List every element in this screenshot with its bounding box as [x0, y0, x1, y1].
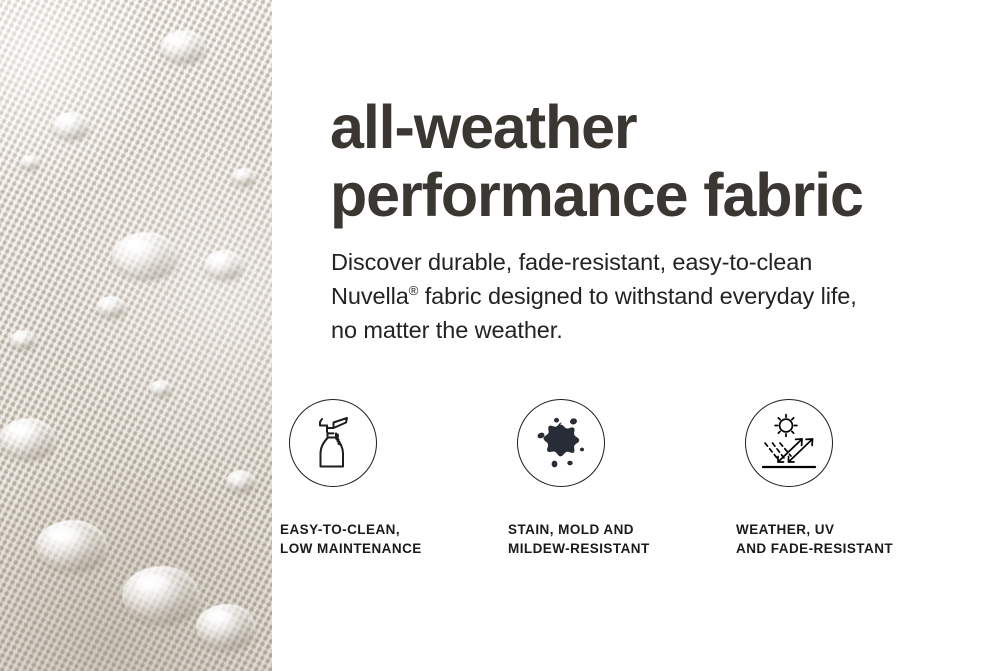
description-line-2: fabric designed to withstand everyday li… — [418, 283, 856, 309]
spray-bottle-icon — [305, 413, 361, 473]
water-droplet — [112, 232, 178, 280]
registered-trademark-icon: ® — [409, 283, 419, 298]
fabric-lighting-overlay — [0, 0, 272, 671]
feature-item-weather-uv-resistant: WEATHER, UV AND FADE-RESISTANT — [728, 399, 956, 558]
water-droplet — [150, 380, 172, 397]
icon-badge — [745, 399, 833, 487]
stain-splat-icon — [530, 412, 592, 474]
fabric-photo — [0, 0, 272, 671]
feature-item-stain-resistant: STAIN, MOLD AND MILDEW-RESISTANT — [500, 399, 728, 558]
icon-badge — [517, 399, 605, 487]
water-droplet — [160, 30, 206, 64]
water-droplet — [36, 520, 108, 572]
page-title: all-weather performance fabric — [330, 93, 990, 229]
water-droplet — [204, 250, 244, 280]
icon-badge — [289, 399, 377, 487]
water-droplet — [20, 155, 40, 170]
description-line-1: Discover durable, fade-resistant, easy-t… — [331, 249, 812, 275]
feature-list: EASY-TO-CLEAN, LOW MAINTENANCE — [272, 399, 957, 558]
content-panel: all-weather performance fabric Discover … — [272, 0, 1005, 671]
sun-uv-reflect-icon — [757, 412, 821, 474]
water-droplet — [196, 604, 256, 650]
feature-caption: EASY-TO-CLEAN, LOW MAINTENANCE — [280, 520, 422, 558]
feature-caption: STAIN, MOLD AND MILDEW-RESISTANT — [508, 520, 650, 558]
water-droplet — [122, 566, 200, 624]
all-weather-fabric-banner: all-weather performance fabric Discover … — [0, 0, 1005, 671]
water-droplet — [0, 418, 56, 460]
brand-name-nuvella: Nuvella — [331, 283, 409, 309]
feature-caption: WEATHER, UV AND FADE-RESISTANT — [736, 520, 893, 558]
water-droplet — [232, 168, 256, 186]
water-droplet — [10, 330, 36, 350]
water-droplet — [96, 296, 126, 318]
feature-item-easy-to-clean: EASY-TO-CLEAN, LOW MAINTENANCE — [272, 399, 500, 558]
description-text: Discover durable, fade-resistant, easy-t… — [331, 245, 971, 347]
description-line-3: no matter the weather. — [331, 317, 563, 343]
water-droplet — [52, 112, 90, 140]
water-droplet — [226, 470, 256, 493]
